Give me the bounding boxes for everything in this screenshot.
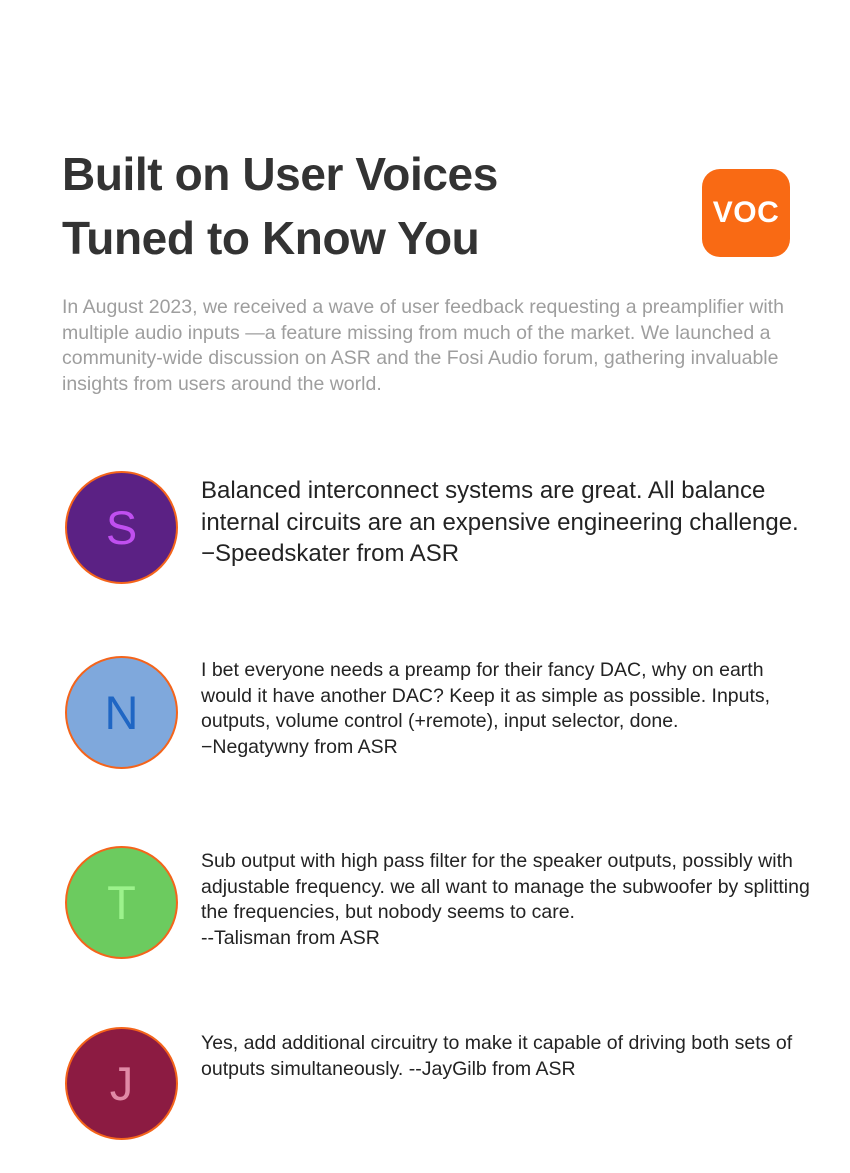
avatar: N [65,656,178,769]
testimonial-quote: I bet everyone needs a preamp for their … [201,658,811,760]
page-title: Built on User Voices Tuned to Know You [62,142,682,270]
testimonial-item: J Yes, add additional circuitry to make … [0,1023,850,1173]
avatar-initial: N [105,689,139,736]
avatar-initial: S [106,504,137,551]
testimonial-item: S Balanced interconnect systems are grea… [0,455,850,605]
brand-badge-label: VOC [713,198,780,228]
testimonial-quote: Balanced interconnect systems are great.… [201,475,801,570]
avatar: J [65,1027,178,1140]
intro-paragraph: In August 2023, we received a wave of us… [62,295,802,397]
avatar-initial: J [110,1060,134,1107]
avatar: S [65,471,178,584]
avatar-initial: T [107,879,136,926]
testimonial-item: T Sub output with high pass filter for t… [0,843,850,993]
testimonial-quote: Yes, add additional circuitry to make it… [201,1031,816,1082]
testimonial-item: N I bet everyone needs a preamp for thei… [0,648,850,798]
voc-brand-badge: VOC [702,169,790,257]
page-header: Built on User Voices Tuned to Know You V… [0,0,850,280]
testimonial-quote: Sub output with high pass filter for the… [201,849,816,951]
avatar: T [65,846,178,959]
page-root: Built on User Voices Tuned to Know You V… [0,0,850,1163]
